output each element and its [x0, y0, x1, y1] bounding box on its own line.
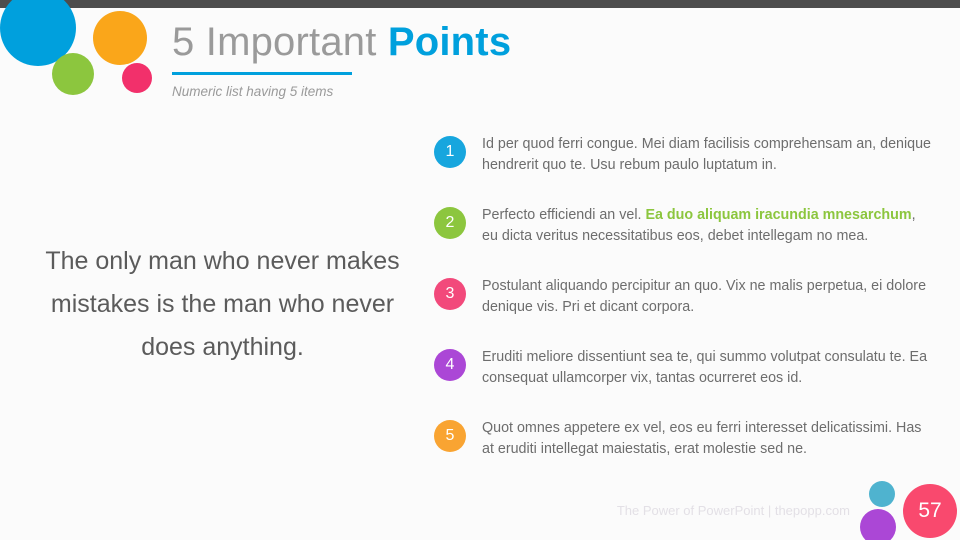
title-block: 5 Important Points Numeric list having 5…: [172, 18, 511, 99]
page-subtitle: Numeric list having 5 items: [172, 84, 511, 99]
title-underline: [172, 72, 352, 75]
numbered-list: 1 Id per quod ferri congue. Mei diam fac…: [434, 134, 934, 466]
page-title-light: 5 Important: [172, 20, 388, 64]
page-title-accent: Points: [388, 20, 511, 64]
page-title: 5 Important Points: [172, 18, 511, 66]
list-item-number-badge: 2: [434, 207, 466, 239]
decor-circle-teal-icon: [869, 481, 895, 507]
list-item-text: Id per quod ferri congue. Mei diam facil…: [482, 134, 934, 176]
page-number-badge: 57: [903, 484, 957, 538]
list-item-text-before: Postulant aliquando percipitur an quo. V…: [482, 278, 926, 315]
list-item: 5 Quot omnes appetere ex vel, eos eu fer…: [434, 418, 934, 466]
list-item-number-badge: 3: [434, 278, 466, 310]
list-item-text: Quot omnes appetere ex vel, eos eu ferri…: [482, 418, 934, 460]
list-item-text-before: Quot omnes appetere ex vel, eos eu ferri…: [482, 420, 921, 457]
list-item-text-highlight: Ea duo aliquam iracundia mnesarchum: [645, 207, 911, 223]
list-item-text-before: Perfecto efficiendi an vel.: [482, 207, 645, 223]
footer-credit: The Power of PowerPoint | thepopp.com: [617, 503, 850, 518]
list-item: 1 Id per quod ferri congue. Mei diam fac…: [434, 134, 934, 182]
list-item-text: Perfecto efficiendi an vel. Ea duo aliqu…: [482, 205, 934, 247]
decor-circle-green-icon: [52, 53, 94, 95]
slide: 5 Important Points Numeric list having 5…: [0, 0, 960, 540]
list-item: 3 Postulant aliquando percipitur an quo.…: [434, 276, 934, 324]
list-item-text: Postulant aliquando percipitur an quo. V…: [482, 276, 934, 318]
list-item-text: Eruditi meliore dissentiunt sea te, qui …: [482, 347, 934, 389]
top-accent-bar: [0, 0, 960, 8]
list-item-text-before: Eruditi meliore dissentiunt sea te, qui …: [482, 349, 927, 386]
list-item-number-badge: 4: [434, 349, 466, 381]
list-item-number-badge: 1: [434, 136, 466, 168]
decor-circle-purple-icon: [860, 509, 896, 540]
list-item-number-badge: 5: [434, 420, 466, 452]
decor-circle-orange-icon: [93, 11, 147, 65]
quote-text: The only man who never makes mistakes is…: [30, 240, 415, 369]
list-item-text-before: Id per quod ferri congue. Mei diam facil…: [482, 136, 931, 173]
list-item: 4 Eruditi meliore dissentiunt sea te, qu…: [434, 347, 934, 395]
decor-circle-pink-icon: [122, 63, 152, 93]
list-item: 2 Perfecto efficiendi an vel. Ea duo ali…: [434, 205, 934, 253]
